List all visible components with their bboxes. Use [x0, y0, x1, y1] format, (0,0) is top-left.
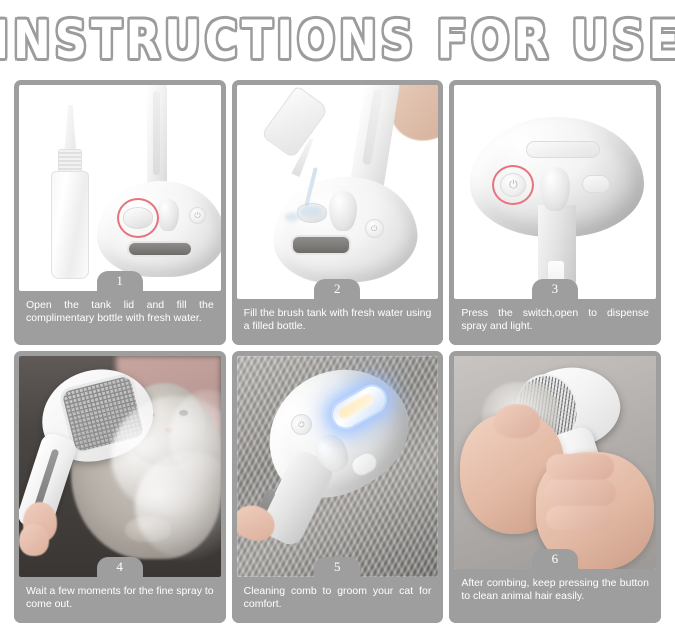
cat-paw [125, 516, 171, 542]
step-1-caption: Open the tank lid and fill the complimen… [14, 291, 226, 345]
nozzle-knob[interactable] [157, 199, 179, 231]
step-3-image: ⏻ 3 [454, 85, 656, 299]
step-panel-1: ⏻ 1 Open the tank lid and fill the compl… [14, 80, 226, 345]
step-number-badge: 5 [314, 557, 360, 577]
scene-bottle-and-device: ⏻ [19, 85, 221, 291]
scene-grooming-cat: ⏻ [237, 356, 439, 577]
page-title: INSTRUCTIONS FOR USE [0, 9, 675, 71]
step-3-caption: Press the switch,open to dispense spray … [449, 299, 661, 345]
handle-groove [153, 91, 160, 175]
step-number-badge: 6 [532, 549, 578, 569]
scene-cleaning-hair [454, 356, 656, 569]
step-6-caption: After combing, keep pressing the button … [449, 569, 661, 623]
step-6-image: 6 [454, 356, 656, 569]
power-button[interactable]: ⏻ [189, 207, 206, 224]
scene-spray-on-cat [19, 356, 221, 577]
nozzle-knob[interactable] [329, 191, 357, 231]
water-tank-window [291, 235, 351, 255]
step-4-image: 4 [19, 356, 221, 577]
water-tank-window [127, 241, 193, 257]
step-panel-6: 6 After combing, keep pressing the butto… [449, 351, 661, 623]
bottle-tip [64, 105, 76, 153]
power-button[interactable]: ⏻ [365, 219, 384, 238]
scene-filling-tank: ⏻ [237, 85, 439, 299]
step-panel-5: ⏻ 5 Cleaning comb to groom your cat for … [232, 351, 444, 623]
squeeze-bottle [260, 85, 329, 159]
page-header: INSTRUCTIONS FOR USE [0, 0, 675, 80]
right-hand-finger [544, 480, 616, 506]
step-2-image: ⏻ 2 [237, 85, 439, 299]
step-4-caption: Wait a few moments for the fine spray to… [14, 577, 226, 623]
step-1-image: ⏻ 1 [19, 85, 221, 291]
water-splash [285, 213, 299, 221]
finger [19, 524, 49, 556]
cat-eye-right [179, 410, 188, 416]
step-panel-3: ⏻ 3 Press the switch,open to dispense sp… [449, 80, 661, 345]
step-5-caption: Cleaning comb to groom your cat for comf… [232, 577, 444, 623]
step-panel-4: 4 Wait a few moments for the fine spray … [14, 351, 226, 623]
step-2-caption: Fill the brush tank with fresh water usi… [232, 299, 444, 345]
step-5-image: ⏻ 5 [237, 356, 439, 577]
step-number-badge: 1 [97, 271, 143, 291]
release-button[interactable] [582, 175, 610, 193]
highlight-circle-tank-lid [117, 198, 159, 238]
right-hand-finger [546, 454, 614, 480]
step-panel-2: ⏻ 2 Fill the brush tank with fresh water… [232, 80, 444, 345]
right-hand-finger [546, 506, 612, 530]
step-number-badge: 4 [97, 557, 143, 577]
step-number-badge: 3 [532, 279, 578, 299]
tank-lid-slot [526, 141, 600, 158]
step-number-badge: 2 [314, 279, 360, 299]
nozzle-knob[interactable] [540, 167, 570, 211]
left-hand-finger [494, 404, 540, 438]
water-splash [299, 205, 323, 217]
instruction-steps-grid: ⏻ 1 Open the tank lid and fill the compl… [0, 80, 675, 631]
water-bottle-illustration [47, 114, 93, 279]
scene-power-switch: ⏻ [454, 85, 656, 299]
cat-nose [165, 428, 173, 433]
device-base [97, 181, 221, 277]
bottle-body [51, 171, 89, 279]
